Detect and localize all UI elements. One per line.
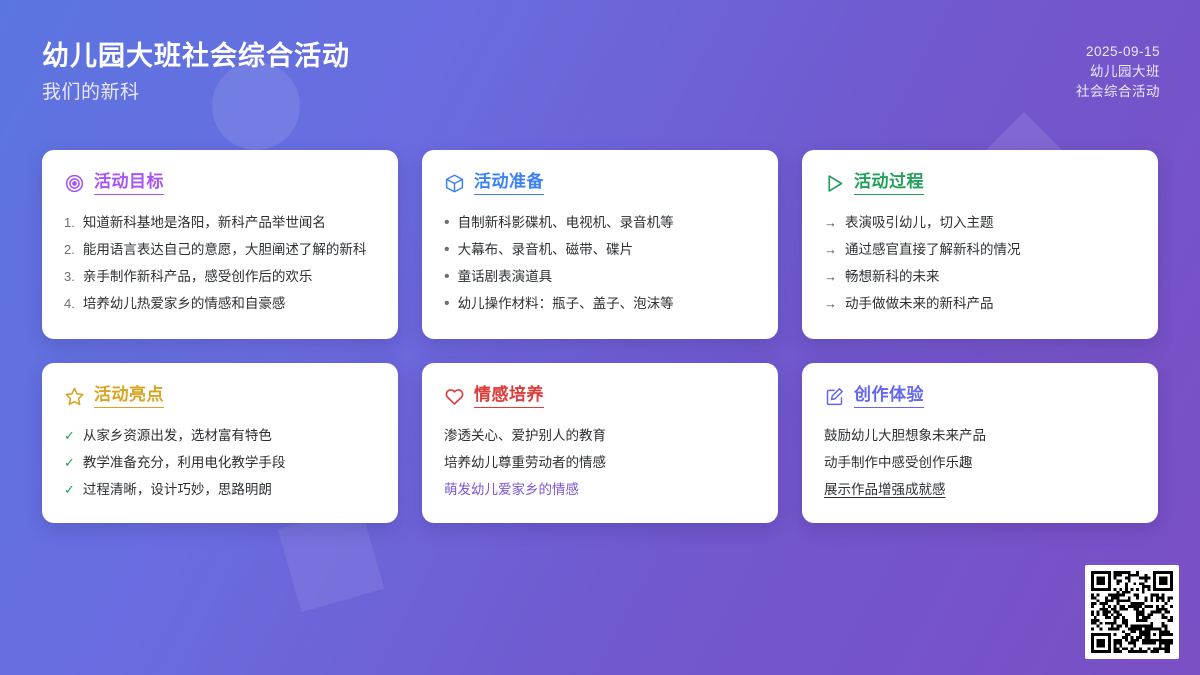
list-marker-dot: • [444,263,450,290]
list-item-text: 表演吸引幼儿，切入主题 [845,209,994,236]
list-item: 展示作品增强成就感 [824,476,1136,503]
list-item: →动手做做未来的新科产品 [824,290,1136,317]
list-item: •童话剧表演道具 [444,263,756,290]
list-item: 鼓励幼儿大胆想象未来产品 [824,422,1136,449]
edit-icon [824,386,845,407]
list-item-text: 知道新科基地是洛阳，新科产品举世闻名 [83,209,326,236]
page-subtitle: 我们的新科 [42,78,350,108]
heart-icon [444,386,465,407]
list-marker-arrow: → [824,290,837,317]
list-marker-number: 3. [64,263,75,290]
list-item: ✓过程清晰，设计巧妙，思路明朗 [64,476,376,503]
list-item-text: 教学准备充分，利用电化教学手段 [83,449,286,476]
card-grid: 活动目标1.知道新科基地是洛阳，新科产品举世闻名2.能用语言表达自己的意愿，大胆… [42,150,1158,523]
list-item: ✓从家乡资源出发，选材富有特色 [64,422,376,449]
star-icon [64,386,85,407]
card-header: 活动亮点 [64,385,376,408]
list-item: •大幕布、录音机、磁带、碟片 [444,236,756,263]
list-item: 4.培养幼儿热爱家乡的情感和自豪感 [64,290,376,317]
header-title-group: 幼儿园大班社会综合活动 我们的新科 [42,38,350,108]
list-marker-dot: • [444,290,450,317]
list-item: •幼儿操作材料：瓶子、盖子、泡沫等 [444,290,756,317]
card-item-list: 鼓励幼儿大胆想象未来产品动手制作中感受创作乐趣展示作品增强成就感 [824,422,1136,503]
card-item-list: •自制新科影碟机、电视机、录音机等•大幕布、录音机、磁带、碟片•童话剧表演道具•… [444,209,756,317]
card-header: 活动准备 [444,172,756,195]
card-title: 活动准备 [474,172,544,195]
list-item-text: 童话剧表演道具 [458,263,553,290]
meta-subject: 社会综合活动 [1076,82,1160,102]
list-item-text: 幼儿操作材料：瓶子、盖子、泡沫等 [458,290,674,317]
card-title: 活动过程 [854,172,924,195]
play-icon [824,173,845,194]
card-header: 活动目标 [64,172,376,195]
page-header: 幼儿园大班社会综合活动 我们的新科 2025-09-15 幼儿园大班 社会综合活… [0,0,1200,150]
page-title: 幼儿园大班社会综合活动 [42,38,350,74]
list-marker-dot: • [444,236,450,263]
meta-date: 2025-09-15 [1076,42,1160,62]
list-item: 培养幼儿尊重劳动者的情感 [444,449,756,476]
card-header: 活动过程 [824,172,1136,195]
card-title: 活动亮点 [94,385,164,408]
card-header: 创作体验 [824,385,1136,408]
card-6: 创作体验鼓励幼儿大胆想象未来产品动手制作中感受创作乐趣展示作品增强成就感 [802,363,1158,523]
card-4: 活动亮点✓从家乡资源出发，选材富有特色✓教学准备充分，利用电化教学手段✓过程清晰… [42,363,398,523]
list-marker-check: ✓ [64,449,75,476]
list-marker-number: 1. [64,209,75,236]
list-item: 3.亲手制作新科产品，感受创作后的欢乐 [64,263,376,290]
list-item: 2.能用语言表达自己的意愿，大胆阐述了解的新科 [64,236,376,263]
list-marker-dot: • [444,209,450,236]
qr-code-image [1091,571,1173,653]
list-item: 动手制作中感受创作乐趣 [824,449,1136,476]
list-item: →畅想新科的未来 [824,263,1136,290]
card-1: 活动目标1.知道新科基地是洛阳，新科产品举世闻名2.能用语言表达自己的意愿，大胆… [42,150,398,339]
list-item: →表演吸引幼儿，切入主题 [824,209,1136,236]
meta-class: 幼儿园大班 [1076,62,1160,82]
card-5: 情感培养渗透关心、爱护别人的教育培养幼儿尊重劳动者的情感萌发幼儿爱家乡的情感 [422,363,778,523]
card-item-list: →表演吸引幼儿，切入主题→通过感官直接了解新科的情况→畅想新科的未来→动手做做未… [824,209,1136,317]
list-item: 1.知道新科基地是洛阳，新科产品举世闻名 [64,209,376,236]
list-item: •自制新科影碟机、电视机、录音机等 [444,209,756,236]
card-header: 情感培养 [444,385,756,408]
list-item-text: 能用语言表达自己的意愿，大胆阐述了解的新科 [83,236,367,263]
list-marker-number: 4. [64,290,75,317]
list-item: →通过感官直接了解新科的情况 [824,236,1136,263]
list-item: ✓教学准备充分，利用电化教学手段 [64,449,376,476]
list-marker-arrow: → [824,236,837,263]
list-item-text: 培养幼儿热爱家乡的情感和自豪感 [83,290,286,317]
list-marker-arrow: → [824,263,837,290]
card-title: 创作体验 [854,385,924,408]
card-title: 活动目标 [94,172,164,195]
list-marker-check: ✓ [64,476,75,503]
list-item-text: 大幕布、录音机、磁带、碟片 [458,236,634,263]
list-item-text: 动手做做未来的新科产品 [845,290,994,317]
list-item-text: 畅想新科的未来 [845,263,940,290]
list-item-text: 过程清晰，设计巧妙，思路明朗 [83,476,272,503]
card-item-list: 1.知道新科基地是洛阳，新科产品举世闻名2.能用语言表达自己的意愿，大胆阐述了解… [64,209,376,317]
qr-code[interactable] [1085,565,1179,659]
card-2: 活动准备•自制新科影碟机、电视机、录音机等•大幕布、录音机、磁带、碟片•童话剧表… [422,150,778,339]
list-item: 渗透关心、爱护别人的教育 [444,422,756,449]
card-3: 活动过程→表演吸引幼儿，切入主题→通过感官直接了解新科的情况→畅想新科的未来→动… [802,150,1158,339]
list-item-text: 通过感官直接了解新科的情况 [845,236,1021,263]
card-item-list: ✓从家乡资源出发，选材富有特色✓教学准备充分，利用电化教学手段✓过程清晰，设计巧… [64,422,376,503]
target-icon [64,173,85,194]
list-item: 萌发幼儿爱家乡的情感 [444,476,756,503]
card-title: 情感培养 [474,385,544,408]
header-meta: 2025-09-15 幼儿园大班 社会综合活动 [1076,42,1160,102]
list-marker-check: ✓ [64,422,75,449]
list-marker-arrow: → [824,209,837,236]
list-item-text: 自制新科影碟机、电视机、录音机等 [458,209,674,236]
list-item-text: 亲手制作新科产品，感受创作后的欢乐 [83,263,313,290]
box-icon [444,173,465,194]
list-item-text: 从家乡资源出发，选材富有特色 [83,422,272,449]
card-item-list: 渗透关心、爱护别人的教育培养幼儿尊重劳动者的情感萌发幼儿爱家乡的情感 [444,422,756,503]
list-marker-number: 2. [64,236,75,263]
